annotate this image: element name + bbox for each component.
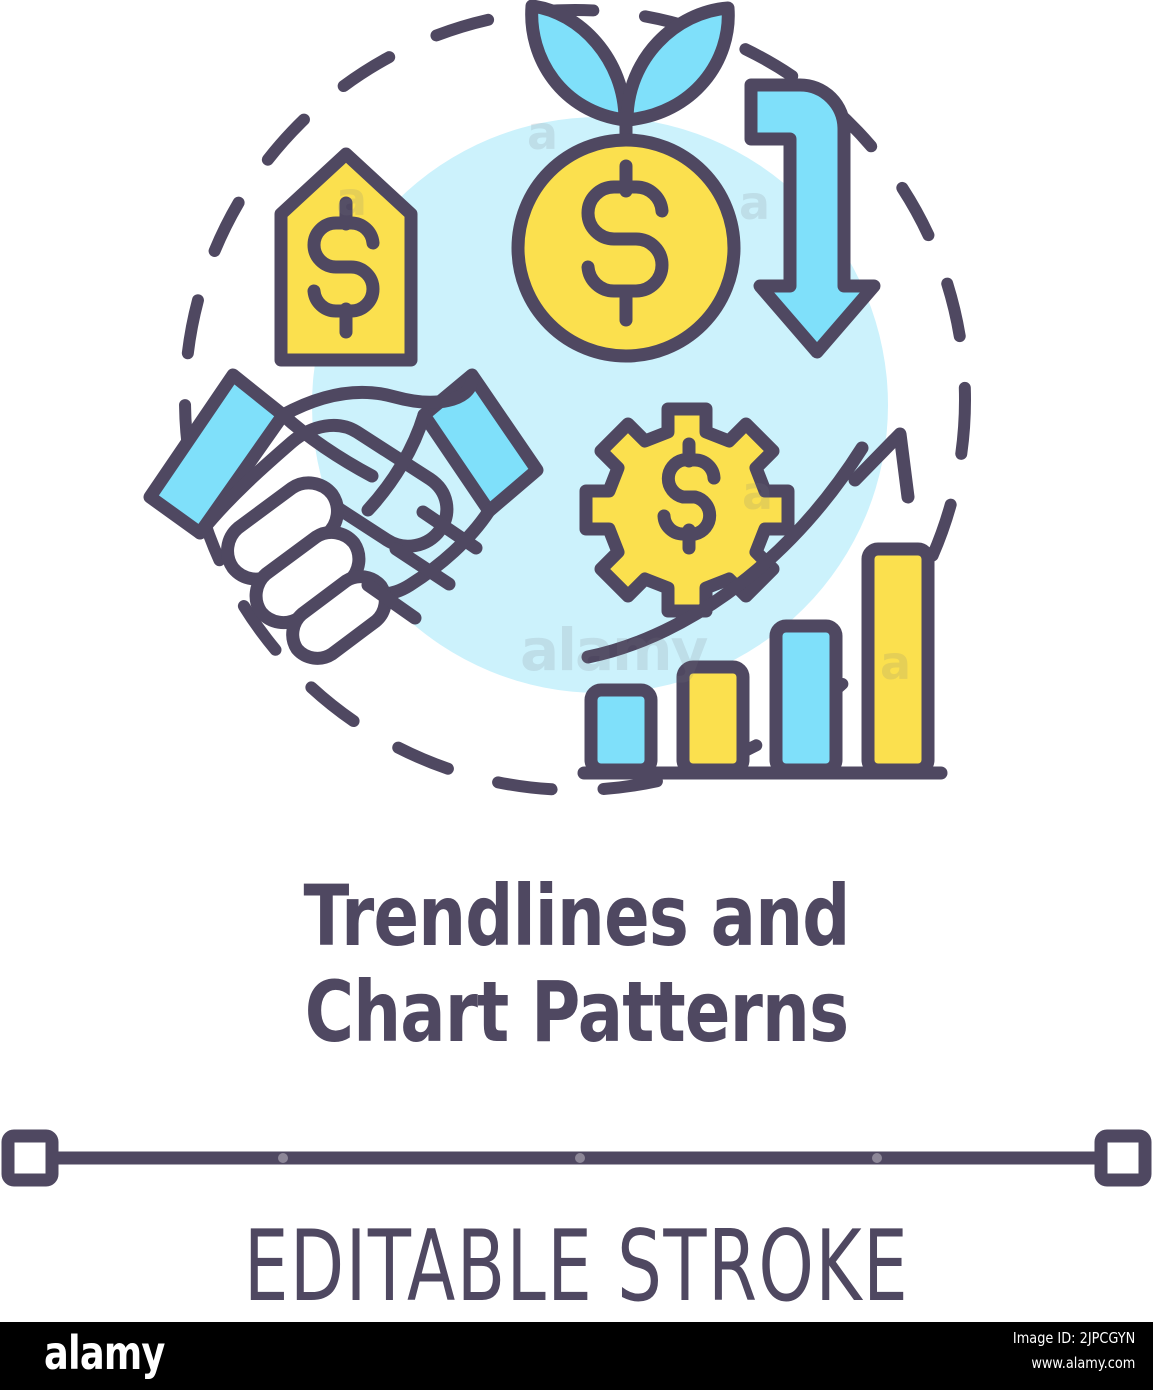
alamy-logo: alamy — [44, 1328, 165, 1378]
stroke-handle-left — [8, 1136, 52, 1180]
money-plant-coin-icon — [518, 6, 734, 356]
gear-dollar-icon — [586, 409, 788, 611]
stroke-handle-right — [1101, 1136, 1145, 1180]
stroke-node-2 — [575, 1153, 585, 1163]
website-text: www.alamy.com — [1013, 1351, 1135, 1376]
stock-image-canvas: .st { stroke:#4f4861; stroke-width:13; s… — [0, 0, 1153, 1390]
image-id-text: Image ID: 2JPCGYN — [1013, 1326, 1135, 1351]
stroke-node-3 — [872, 1153, 882, 1163]
watermark-band: alamy Image ID: 2JPCGYN www.alamy.com — [0, 1322, 1153, 1390]
price-tag-icon — [281, 154, 411, 360]
editable-stroke-label: EDITABLE STROKE — [161, 1212, 991, 1322]
editable-stroke-bar — [0, 1118, 1153, 1196]
stroke-node-1 — [278, 1153, 288, 1163]
page-title-line-1: Trendlines and — [115, 868, 1037, 964]
watermark-meta: Image ID: 2JPCGYN www.alamy.com — [1013, 1326, 1135, 1376]
page-title-line-2: Chart Patterns — [115, 964, 1037, 1060]
concept-illustration: .st { stroke:#4f4861; stroke-width:13; s… — [0, 0, 1153, 840]
page-title: Trendlines and Chart Patterns — [115, 868, 1037, 1060]
